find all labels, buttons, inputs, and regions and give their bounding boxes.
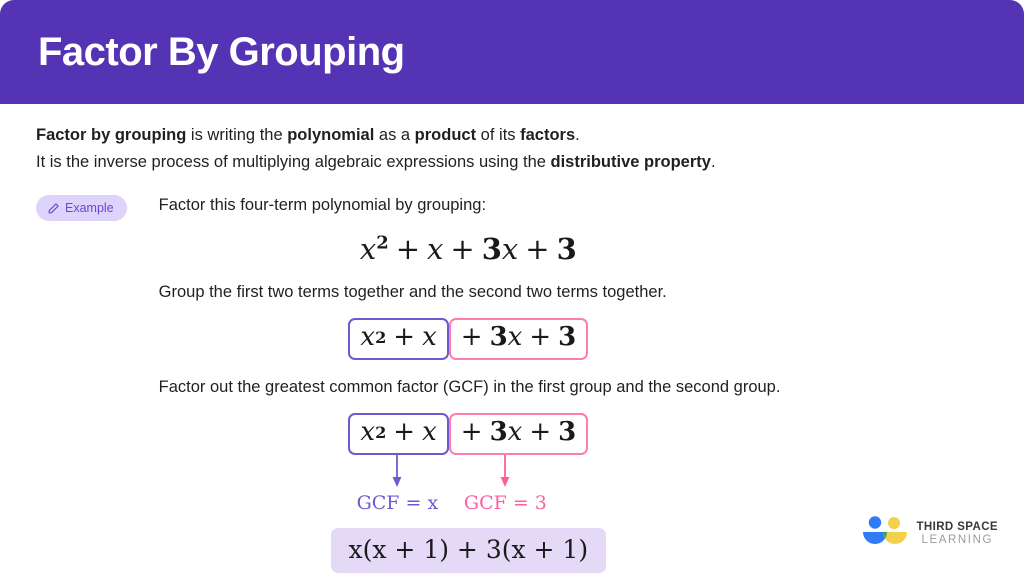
arrow-down-left-icon bbox=[390, 455, 404, 489]
g1r-var: x bbox=[508, 322, 523, 352]
gcf-label-right: GCF = 3 bbox=[464, 492, 547, 514]
g2r-coeff: 3 bbox=[490, 417, 508, 447]
g2l-term: x bbox=[422, 417, 437, 447]
step-2-text: Factor out the greatest common factor (G… bbox=[159, 375, 988, 400]
intro-line-2: It is the inverse process of multiplying… bbox=[36, 149, 988, 176]
group-box-right-1: +3x+3 bbox=[449, 318, 588, 360]
arrow-down-right-icon bbox=[498, 455, 512, 489]
g2r-plus2: + bbox=[522, 417, 558, 447]
group-box-left-2: x2+x bbox=[348, 413, 448, 455]
gcf-arrows bbox=[348, 455, 588, 491]
g2l-plus: + bbox=[386, 417, 422, 447]
equation-term-x: x bbox=[427, 232, 443, 266]
gcf-labels: GCF = x GCF = 3 bbox=[348, 492, 588, 518]
g2r-var: x bbox=[508, 417, 523, 447]
group-boxes-1: x2+x +3x+3 bbox=[348, 318, 588, 360]
lesson-body: Factor by grouping is writing the polyno… bbox=[0, 104, 1024, 573]
intro-line-1: Factor by grouping is writing the polyno… bbox=[36, 122, 988, 149]
group-box-left-1: x2+x bbox=[348, 318, 448, 360]
brand-name-line-1: THIRD SPACE bbox=[917, 521, 999, 534]
equation-exponent: 2 bbox=[376, 233, 389, 254]
pencil-icon bbox=[47, 202, 60, 215]
intro-bold-polynomial: polynomial bbox=[287, 126, 374, 144]
page-header: Factor By Grouping bbox=[0, 0, 1024, 104]
intro-text-1: is writing the bbox=[186, 126, 287, 144]
equation-plus-3: + bbox=[518, 232, 556, 266]
intro-bold-distributive-property: distributive property bbox=[551, 153, 711, 171]
intro-bold-factors: factors bbox=[520, 126, 575, 144]
g2r-const: 3 bbox=[558, 417, 576, 447]
third-space-learning-mark-icon bbox=[862, 515, 908, 552]
grouping-inner-1: x2+x +3x+3 bbox=[348, 318, 588, 360]
g1l-exp: 2 bbox=[375, 328, 386, 347]
intro-text-5: It is the inverse process of multiplying… bbox=[36, 153, 551, 171]
g1l-term: x bbox=[422, 322, 437, 352]
g1l-x: x bbox=[360, 322, 375, 352]
equation-plus-1: + bbox=[389, 232, 427, 266]
example-prompt: Factor this four-term polynomial by grou… bbox=[159, 193, 988, 218]
equation-coeff-3: 3 bbox=[482, 232, 502, 266]
g1r-plus2: + bbox=[522, 322, 558, 352]
equation-x: x bbox=[360, 232, 376, 266]
g2l-x: x bbox=[360, 417, 375, 447]
g2r-plus1: + bbox=[461, 417, 483, 447]
main-equation: x2+x+3x+3 bbox=[159, 232, 988, 266]
intro-bold-product: product bbox=[415, 126, 476, 144]
group-box-right-2: +3x+3 bbox=[449, 413, 588, 455]
brand-logo-text: THIRD SPACE LEARNING bbox=[917, 521, 999, 547]
intro-text-2: as a bbox=[374, 126, 414, 144]
step-1-text: Group the first two terms together and t… bbox=[159, 280, 988, 305]
equation-var-x: x bbox=[502, 232, 518, 266]
group-boxes-2: x2+x +3x+3 bbox=[348, 413, 588, 455]
grouping-diagram-1: x2+x +3x+3 bbox=[159, 318, 988, 360]
intro-paragraph: Factor by grouping is writing the polyno… bbox=[36, 122, 988, 175]
brand-logo: THIRD SPACE LEARNING bbox=[862, 515, 999, 552]
example-badge-label: Example bbox=[65, 201, 114, 215]
g1r-const: 3 bbox=[558, 322, 576, 352]
equation-const-3: 3 bbox=[557, 232, 577, 266]
intro-text-3: of its bbox=[476, 126, 520, 144]
lesson-card: Factor By Grouping Factor by grouping is… bbox=[0, 0, 1024, 580]
page-title: Factor By Grouping bbox=[38, 32, 405, 72]
intro-text-6: . bbox=[711, 153, 716, 171]
equation-plus-2: + bbox=[443, 232, 481, 266]
g1l-plus: + bbox=[386, 322, 422, 352]
g1r-coeff: 3 bbox=[490, 322, 508, 352]
intro-bold-factor-by-grouping: Factor by grouping bbox=[36, 126, 186, 144]
grouping-inner-2: x2+x +3x+3 bbox=[348, 413, 588, 518]
grouping-diagram-2: x2+x +3x+3 bbox=[159, 413, 988, 518]
final-answer: x(x + 1) + 3(x + 1) bbox=[331, 528, 607, 573]
g2l-exp: 2 bbox=[375, 423, 386, 442]
example-badge: Example bbox=[36, 195, 127, 221]
example-section: Example Factor this four-term polynomial… bbox=[36, 193, 988, 572]
brand-name-line-2: LEARNING bbox=[917, 534, 999, 547]
intro-text-4: . bbox=[575, 126, 580, 144]
gcf-label-left: GCF = x bbox=[357, 492, 439, 514]
g1r-plus1: + bbox=[461, 322, 483, 352]
